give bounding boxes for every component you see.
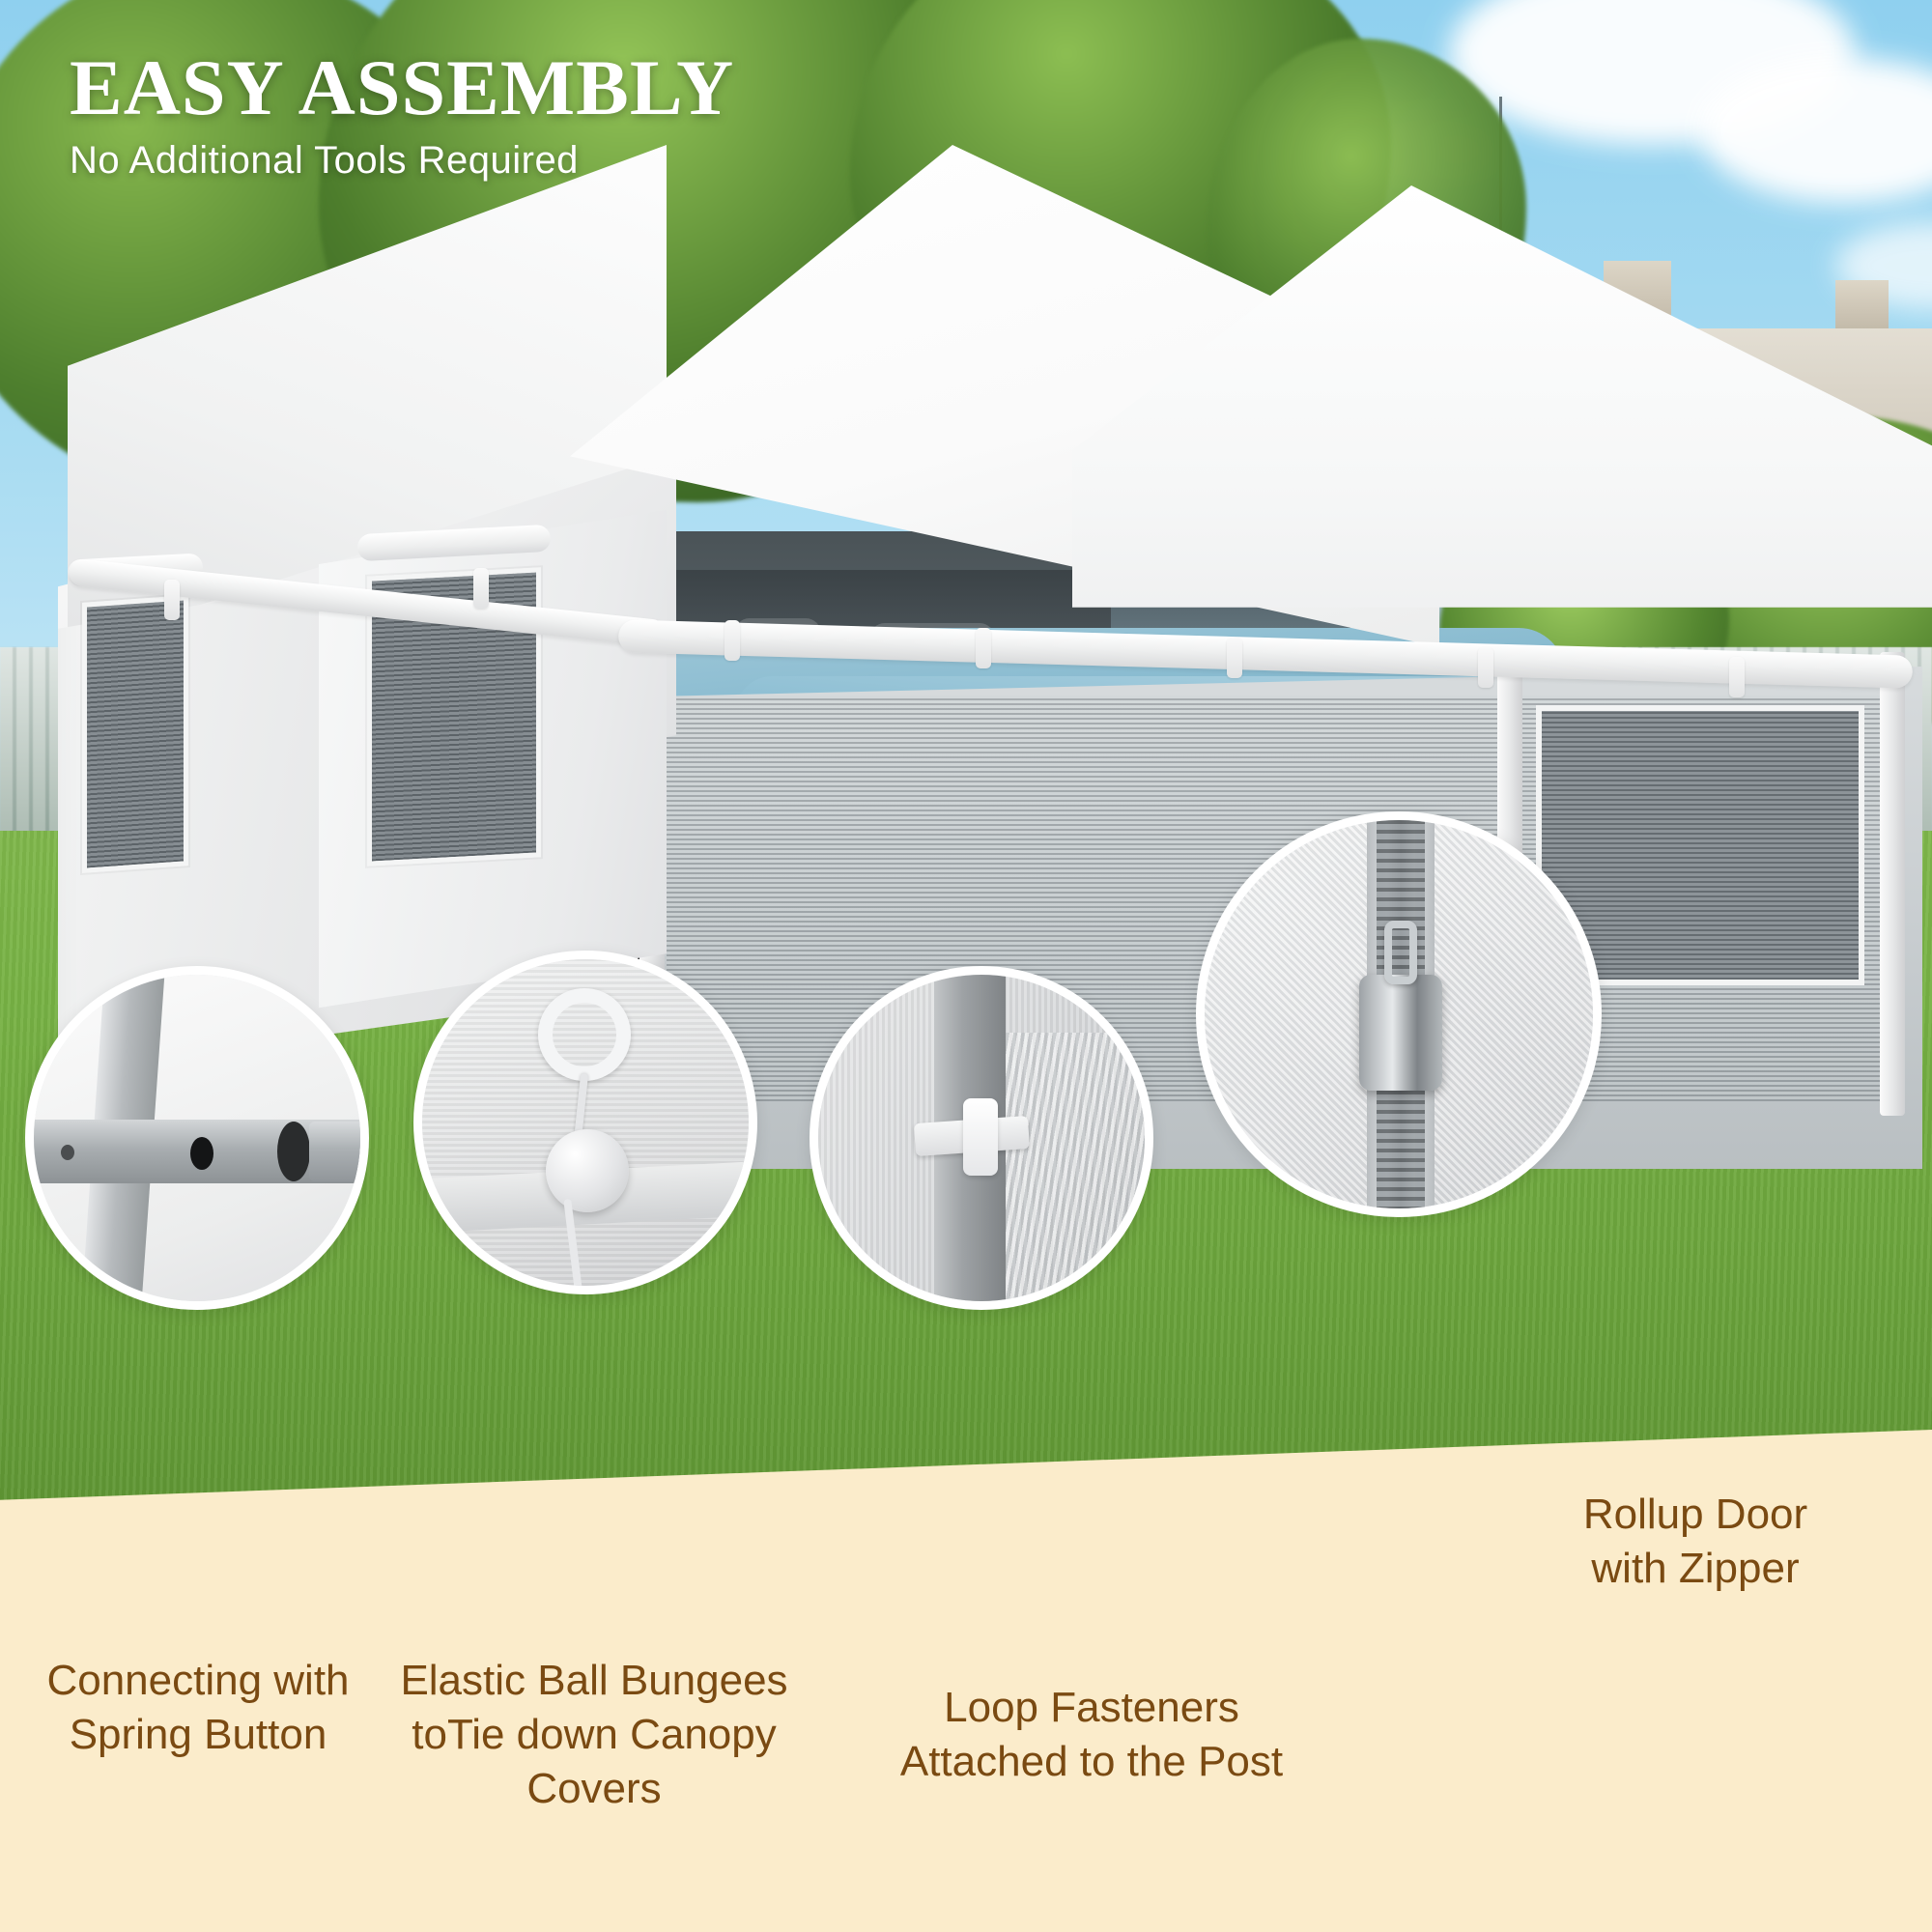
headline-block: EASY ASSEMBLY No Additional Tools Requir… xyxy=(70,46,734,185)
feature-bubble-spring-button xyxy=(25,966,369,1310)
canopy-mesh-window xyxy=(82,595,188,873)
zipper-slider xyxy=(1359,975,1442,1091)
feature-bubble-ball-bungee xyxy=(413,951,757,1294)
frame-tube-segment xyxy=(309,1122,369,1181)
canopy-tie-strap xyxy=(473,568,489,609)
zipper-pull-tab xyxy=(1384,921,1417,984)
feature-caption-ball-bungee: Elastic Ball Bungees toTie down Canopy C… xyxy=(367,1654,821,1816)
canopy-tie-strap xyxy=(1478,647,1493,688)
canopy-tie-strap xyxy=(1227,638,1242,678)
canopy-tie-strap xyxy=(1729,657,1745,697)
canopy-tie-strap xyxy=(976,628,991,668)
canopy-tie-strap xyxy=(164,580,180,620)
spring-button-hole xyxy=(61,1145,74,1160)
canopy-fabric-panel xyxy=(1002,1033,1153,1310)
feature-caption-loop-fastener: Loop Fasteners Attached to the Post xyxy=(850,1681,1333,1789)
spring-button-hole xyxy=(190,1137,213,1170)
feature-bubble-rollup-zipper xyxy=(1196,811,1602,1217)
marketing-image-canvas: FORD xyxy=(0,0,1932,1932)
canopy-eave-rail xyxy=(618,619,1913,688)
canopy-tie-strap xyxy=(724,620,740,661)
feature-bubble-loop-fastener xyxy=(810,966,1153,1310)
feature-caption-spring-button: Connecting with Spring Button xyxy=(10,1654,386,1762)
page-title: EASY ASSEMBLY xyxy=(70,46,734,129)
loop-fastener-knot xyxy=(963,1098,998,1176)
page-subtitle: No Additional Tools Required xyxy=(70,135,734,185)
bungee-ring xyxy=(538,988,631,1081)
canopy-post xyxy=(1880,652,1905,1116)
bungee-ball xyxy=(546,1129,629,1212)
tube-open-end xyxy=(277,1122,310,1181)
feature-caption-rollup-zipper: Rollup Door with Zipper xyxy=(1468,1488,1922,1596)
